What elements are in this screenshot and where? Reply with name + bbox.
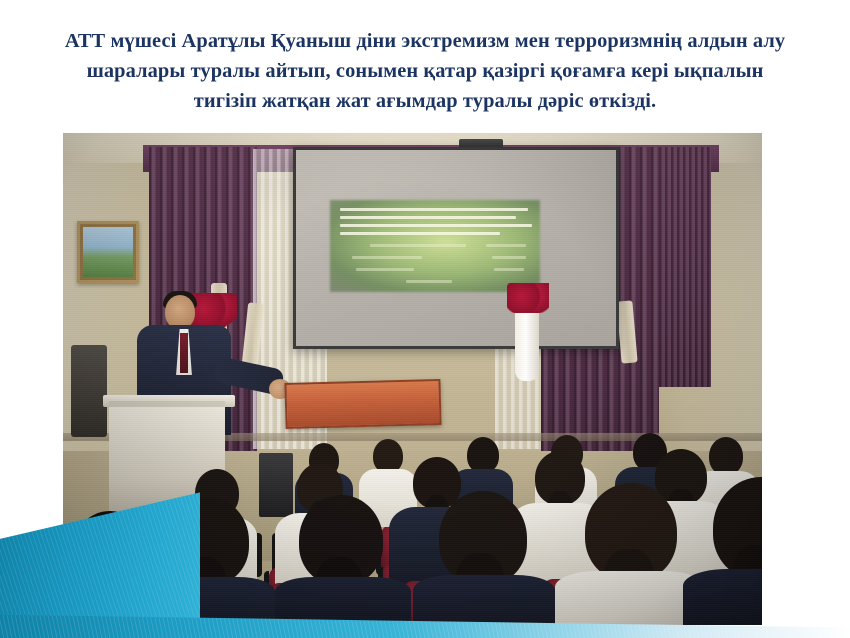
orange-banner: [284, 379, 441, 429]
projected-text-line: [352, 256, 422, 259]
flowers-left: [189, 293, 237, 327]
projector-screen: [293, 147, 619, 349]
slide-title: АТТ мүшесі Аратұлы Қуаныш діни экстремиз…: [8, 26, 842, 116]
title-line-1: АТТ мүшесі Аратұлы Қуаныш діни экстремиз…: [8, 26, 842, 56]
projected-text-line: [340, 216, 516, 219]
framed-picture: [77, 221, 139, 283]
presentation-slide: АТТ мүшесі Аратұлы Қуаныш діни экстремиз…: [0, 0, 850, 638]
projected-text-line: [340, 224, 532, 227]
audience-head: [709, 437, 743, 475]
slide-photo: [63, 133, 762, 625]
projected-text-line: [340, 232, 500, 235]
audience-torso: [275, 577, 411, 625]
flower-vase-right: [515, 309, 539, 381]
curtain-far-right: [659, 147, 711, 387]
projected-text-line: [406, 280, 452, 283]
loudspeaker-left: [71, 345, 107, 437]
framed-picture-canvas: [83, 227, 133, 277]
audience-head: [373, 439, 403, 473]
presenter-tie: [180, 333, 188, 373]
audience-area: [63, 433, 762, 625]
audience-torso: [683, 569, 762, 625]
projected-text-line: [492, 256, 526, 259]
projected-text-line: [486, 244, 526, 247]
flowers-right: [507, 283, 549, 313]
title-line-3: тигізіп жатқан жат ағымдар туралы дәріс …: [8, 86, 842, 116]
projected-text-line: [370, 244, 466, 247]
projected-text-line: [356, 268, 414, 271]
presenter-head: [165, 295, 195, 329]
title-line-2: шаралары туралы айтып, сонымен қатар қаз…: [8, 56, 842, 86]
audience-torso: [413, 575, 555, 625]
projected-text-line: [494, 268, 524, 271]
projected-text-line: [340, 208, 528, 211]
audience-torso: [143, 577, 275, 625]
audience-head: [467, 437, 499, 473]
